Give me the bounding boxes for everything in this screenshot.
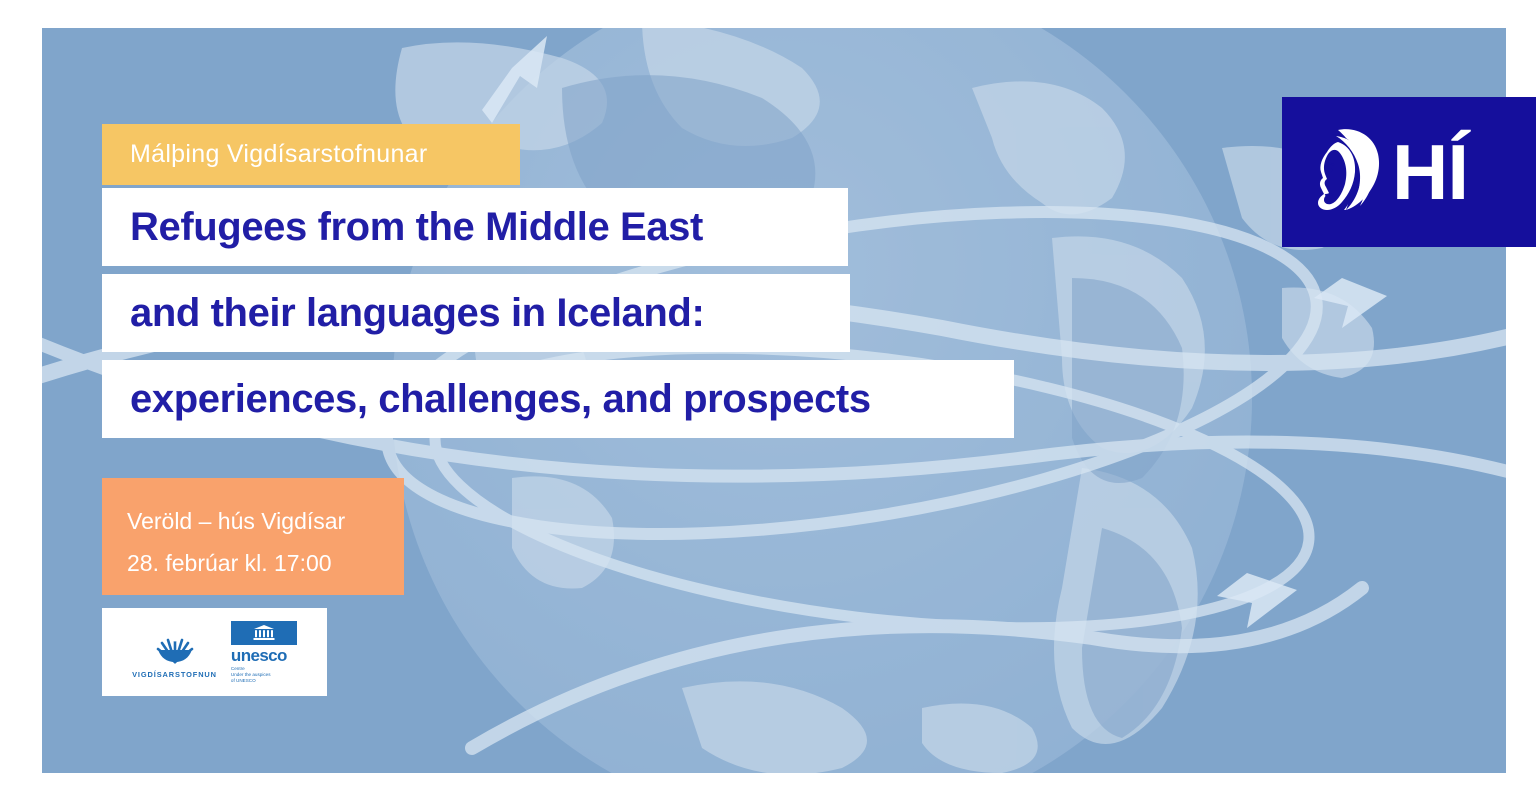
- university-wordmark: HÍ: [1392, 133, 1468, 211]
- event-datetime: 28. febrúar kl. 17:00: [127, 542, 404, 584]
- unesco-wordmark: unesco: [231, 647, 287, 664]
- event-series-banner: Málþing Vigdísarstofnunar: [102, 124, 520, 185]
- unesco-subtext: Centre Under the auspices of UNESCO: [231, 666, 271, 684]
- title-line-3: experiences, challenges, and prospects: [130, 377, 871, 422]
- unesco-temple-icon: [251, 624, 277, 641]
- event-series-label: Málþing Vigdísarstofnunar: [130, 140, 428, 169]
- unesco-emblem-box: [231, 621, 297, 645]
- title-line-3-band: experiences, challenges, and prospects: [102, 360, 1014, 438]
- title-line-2-band: and their languages in Iceland:: [102, 274, 850, 352]
- event-details-box: Veröld – hús Vigdísar 28. febrúar kl. 17…: [102, 478, 404, 595]
- vigdis-logo: VIGDÍSARSTOFNUN: [132, 626, 217, 679]
- partner-logos-strip: VIGDÍSARSTOFNUN: [102, 608, 327, 696]
- vigdis-logo-label: VIGDÍSARSTOFNUN: [132, 670, 217, 679]
- title-line-1: Refugees from the Middle East: [130, 205, 703, 250]
- event-venue: Veröld – hús Vigdísar: [127, 500, 404, 542]
- title-line-2: and their languages in Iceland:: [130, 291, 704, 336]
- unesco-logo: unesco Centre Under the auspices of UNES…: [231, 621, 297, 684]
- athena-head-icon: [1308, 124, 1384, 220]
- poster: Málþing Vigdísarstofnunar Refugees from …: [0, 0, 1536, 809]
- radiating-globe-icon: [153, 626, 197, 666]
- university-of-iceland-logo: HÍ: [1282, 97, 1536, 247]
- title-line-1-band: Refugees from the Middle East: [102, 188, 848, 266]
